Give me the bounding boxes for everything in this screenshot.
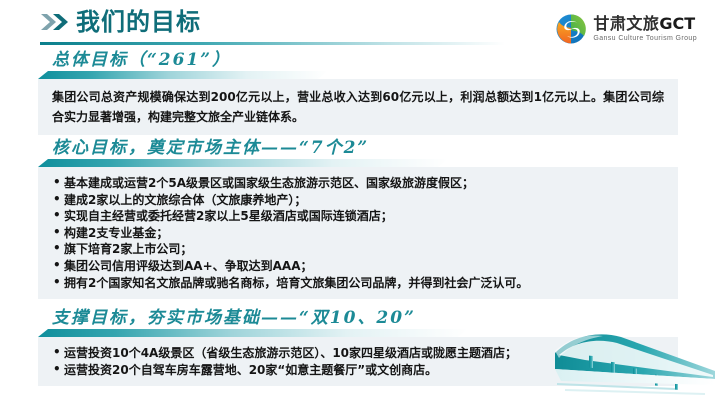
list-item: 运营投资20个自驾车房车露营地、20家“如意主题餐厅”或文创商店。 xyxy=(52,362,664,379)
double-chevron-right-icon xyxy=(40,11,70,33)
list-item: 构建2支专业基金； xyxy=(52,225,664,242)
section-heading: 核心目标，奠定市场主体——“7个2” xyxy=(38,138,678,158)
section-support-goal: 支撑目标，夯实市场基础——“双10、20” 运营投资10个4A级景区（省级生态旅… xyxy=(38,308,678,386)
section-paragraph: 集团公司总资产规模确保达到200亿元以上，营业总收入达到60亿元以上，利润总额达… xyxy=(52,87,664,127)
list-item: 建成2家以上的文旅综合体（文旅康养地产）； xyxy=(52,192,664,209)
gansu-culture-tourism-swirl-logo-icon xyxy=(556,14,586,44)
list-item: 拥有2个国家知名文旅品牌或驰名商标，培育文旅集团公司品牌，并得到社会广泛认可。 xyxy=(52,275,664,292)
section-heading: 支撑目标，夯实市场基础——“双10、20” xyxy=(38,308,678,328)
section-body: 集团公司总资产规模确保达到200亿元以上，营业总收入达到60亿元以上，利润总额达… xyxy=(38,79,678,135)
brand-abbr: GCT xyxy=(659,14,695,33)
brand-logo-text: 甘肃文旅GCT Gansu Culture Tourism Group xyxy=(593,16,697,42)
section-heading-bar xyxy=(38,71,328,79)
bullet-list: 基本建成或运营2个5A级景区或国家级生态旅游示范区、国家级旅游度假区； 建成2家… xyxy=(52,175,664,291)
section-core-goal: 核心目标，奠定市场主体——“7个2” 基本建成或运营2个5A级景区或国家级生态旅… xyxy=(38,138,678,299)
section-heading-bar xyxy=(38,329,468,337)
page-title: 我们的目标 xyxy=(76,10,201,34)
page-title-row: 我们的目标 xyxy=(40,10,201,34)
section-overall-goal: 总体目标（“261”） 集团公司总资产规模确保达到200亿元以上，营业总收入达到… xyxy=(38,50,678,135)
slide-canvas: 我们的目标 xyxy=(0,0,715,402)
list-item: 实现自主经营或委托经营2家以上5星级酒店或国际连锁酒店； xyxy=(52,208,664,225)
section-body: 基本建成或运营2个5A级景区或国家级生态旅游示范区、国家级旅游度假区； 建成2家… xyxy=(38,167,678,299)
brand-logo: 甘肃文旅GCT Gansu Culture Tourism Group xyxy=(556,14,697,44)
brand-name-cn: 甘肃文旅GCT xyxy=(593,16,697,32)
section-heading: 总体目标（“261”） xyxy=(38,50,678,70)
title-underline-rule xyxy=(40,42,505,45)
list-item: 运营投资10个4A级景区（省级生态旅游示范区）、10家四星级酒店或陇愿主题酒店； xyxy=(52,345,664,362)
list-item: 旗下培育2家上市公司； xyxy=(52,241,664,258)
list-item: 基本建成或运营2个5A级景区或国家级生态旅游示范区、国家级旅游度假区； xyxy=(52,175,664,192)
list-item: 集团公司信用评级达到AA+、争取达到AAA； xyxy=(52,258,664,275)
bullet-list: 运营投资10个4A级景区（省级生态旅游示范区）、10家四星级酒店或陇愿主题酒店；… xyxy=(52,345,664,378)
brand-name-en: Gansu Culture Tourism Group xyxy=(593,35,697,42)
section-body: 运营投资10个4A级景区（省级生态旅游示范区）、10家四星级酒店或陇愿主题酒店；… xyxy=(38,337,678,386)
section-heading-bar xyxy=(38,159,448,167)
